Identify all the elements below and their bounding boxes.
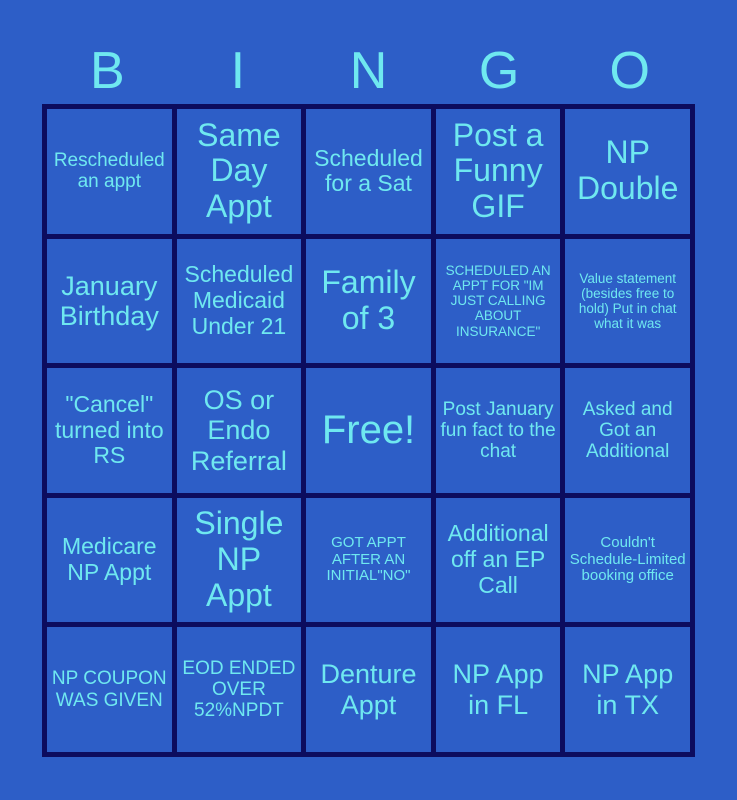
bingo-header-letter-i: I (173, 38, 304, 104)
bingo-square[interactable]: Asked and Got an Additional (565, 368, 690, 493)
bingo-square[interactable]: NP Double (565, 109, 690, 234)
bingo-square[interactable]: Family of 3 (306, 239, 431, 364)
bingo-card: B I N G O Rescheduled an apptSame Day Ap… (0, 0, 737, 800)
bingo-square[interactable]: Single NP Appt (177, 498, 302, 623)
bingo-square[interactable]: Additional off an EP Call (436, 498, 561, 623)
bingo-square[interactable]: Post January fun fact to the chat (436, 368, 561, 493)
bingo-square[interactable]: Scheduled Medicaid Under 21 (177, 239, 302, 364)
bingo-header-letter-n: N (303, 38, 434, 104)
bingo-square[interactable]: NP COUPON WAS GIVEN (47, 627, 172, 752)
bingo-square[interactable]: Same Day Appt (177, 109, 302, 234)
bingo-square[interactable]: NP App in FL (436, 627, 561, 752)
bingo-square[interactable]: Medicare NP Appt (47, 498, 172, 623)
bingo-square[interactable]: EOD ENDED OVER 52%NPDT (177, 627, 302, 752)
bingo-header-letter-o: O (564, 38, 695, 104)
bingo-square[interactable]: Rescheduled an appt (47, 109, 172, 234)
bingo-square[interactable]: SCHEDULED AN APPT FOR "IM JUST CALLING A… (436, 239, 561, 364)
bingo-square[interactable]: GOT APPT AFTER AN INITIAL"NO" (306, 498, 431, 623)
bingo-grid: Rescheduled an apptSame Day ApptSchedule… (42, 104, 695, 757)
bingo-square[interactable]: Value statement (besides free to hold) P… (565, 239, 690, 364)
bingo-square[interactable]: Post a Funny GIF (436, 109, 561, 234)
bingo-square-free[interactable]: Free! (306, 368, 431, 493)
bingo-header: B I N G O (42, 38, 695, 104)
bingo-square[interactable]: NP App in TX (565, 627, 690, 752)
bingo-square[interactable]: OS or Endo Referral (177, 368, 302, 493)
bingo-square[interactable]: January Birthday (47, 239, 172, 364)
bingo-square[interactable]: Denture Appt (306, 627, 431, 752)
bingo-square[interactable]: "Cancel" turned into RS (47, 368, 172, 493)
bingo-square[interactable]: Couldn't Schedule-Limited booking office (565, 498, 690, 623)
bingo-header-letter-g: G (434, 38, 565, 104)
bingo-square[interactable]: Scheduled for a Sat (306, 109, 431, 234)
bingo-header-letter-b: B (42, 38, 173, 104)
